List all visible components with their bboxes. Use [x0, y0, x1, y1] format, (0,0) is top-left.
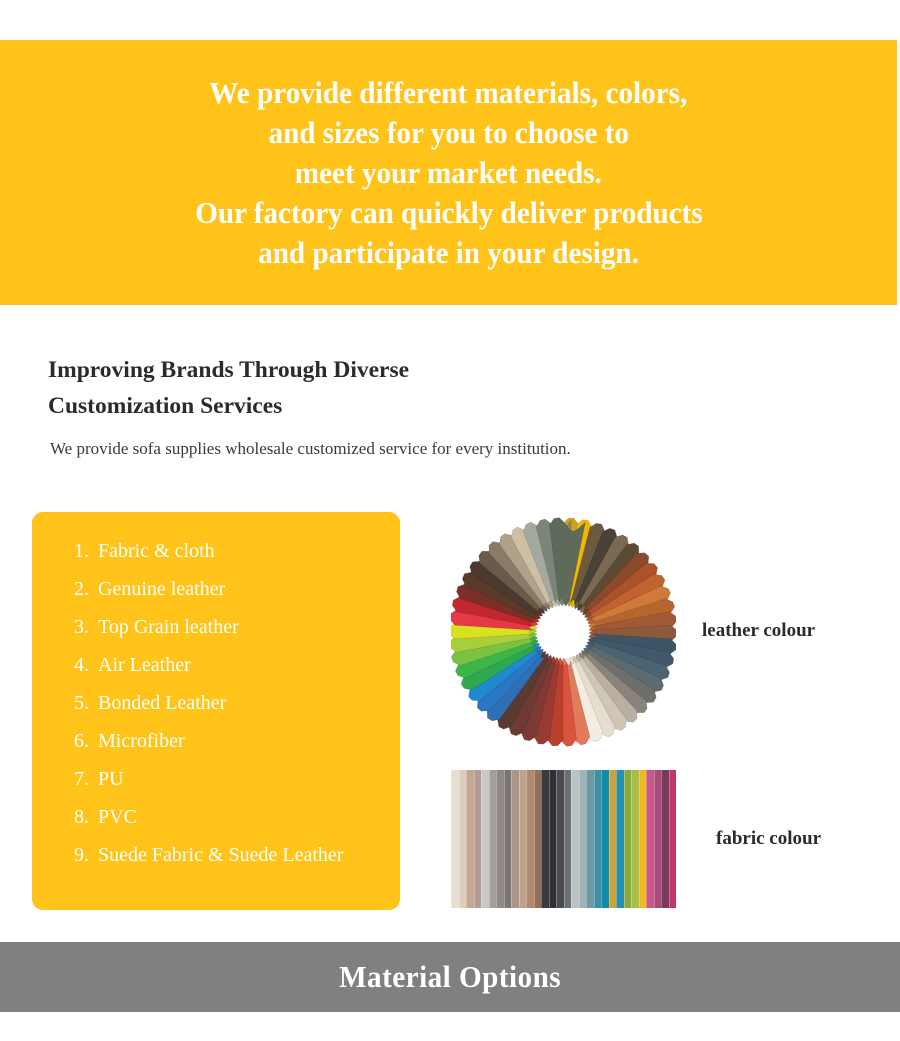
fabric-swatch — [534, 770, 542, 908]
material-options-footer: Material Options — [0, 942, 900, 1012]
fabric-swatch — [504, 770, 512, 908]
fabric-swatch — [624, 770, 632, 908]
banner-line: and sizes for you to choose to — [268, 113, 628, 153]
fabric-swatch — [496, 770, 504, 908]
fabric-swatch — [586, 770, 594, 908]
fabric-swatch — [489, 770, 497, 908]
materials-list: Fabric & cloth Genuine leather Top Grain… — [32, 512, 400, 869]
fabric-swatch — [519, 770, 527, 908]
materials-list-card: Fabric & cloth Genuine leather Top Grain… — [32, 512, 400, 910]
list-item: Air Leather — [94, 652, 382, 679]
fabric-swatch — [474, 770, 482, 908]
list-item: Bonded Leather — [94, 690, 382, 717]
list-item: PU — [94, 766, 382, 793]
list-item: Genuine leather — [94, 576, 382, 603]
wheel-center-hole — [541, 610, 585, 654]
fabric-swatch — [459, 770, 467, 908]
footer-title: Material Options — [339, 959, 561, 995]
fabric-swatch — [556, 770, 564, 908]
section-title-line-2: Customization Services — [48, 388, 668, 424]
fabric-swatch — [466, 770, 474, 908]
fabric-swatch — [616, 770, 624, 908]
fabric-swatch — [511, 770, 519, 908]
fabric-swatch — [526, 770, 534, 908]
section-title-line-1: Improving Brands Through Diverse — [48, 352, 668, 388]
fabric-swatch — [609, 770, 617, 908]
fabric-colour-label: fabric colour — [716, 828, 821, 850]
fabric-swatch — [571, 770, 579, 908]
fabric-colour-row: fabric colour — [451, 770, 821, 908]
fabric-swatch — [654, 770, 662, 908]
section-heading: Improving Brands Through Diverse Customi… — [48, 352, 668, 424]
fabric-swatch — [661, 770, 669, 908]
leather-colour-row: leather colour — [451, 512, 815, 750]
fabric-swatch — [541, 770, 549, 908]
leather-wheel-graphic — [451, 512, 676, 750]
fabric-swatch — [639, 770, 647, 908]
fabric-swatch — [594, 770, 602, 908]
fabric-swatch — [601, 770, 609, 908]
leather-colour-wheel-image — [451, 512, 676, 750]
banner-line: Our factory can quickly deliver products — [195, 193, 703, 233]
fabric-swatch — [579, 770, 587, 908]
fabric-swatch — [646, 770, 654, 908]
promo-banner: We provide different materials, colors, … — [0, 40, 897, 305]
fabric-swatch — [549, 770, 557, 908]
fabric-swatch — [481, 770, 489, 908]
leather-colour-label: leather colour — [702, 620, 815, 642]
banner-line: We provide different materials, colors, — [209, 73, 687, 113]
fabric-colour-swatch-image — [451, 770, 676, 908]
list-item: PVC — [94, 804, 382, 831]
banner-line: meet your market needs. — [295, 153, 602, 193]
fabric-swatch — [669, 770, 677, 908]
fabric-swatch — [631, 770, 639, 908]
list-item: Suede Fabric & Suede Leather — [94, 842, 382, 869]
banner-line: and participate in your design. — [258, 233, 639, 273]
list-item: Top Grain leather — [94, 614, 382, 641]
fabric-swatch — [564, 770, 572, 908]
fabric-swatch — [451, 770, 459, 908]
list-item: Fabric & cloth — [94, 538, 382, 565]
list-item: Microfiber — [94, 728, 382, 755]
section-subtitle: We provide sofa supplies wholesale custo… — [50, 437, 571, 461]
